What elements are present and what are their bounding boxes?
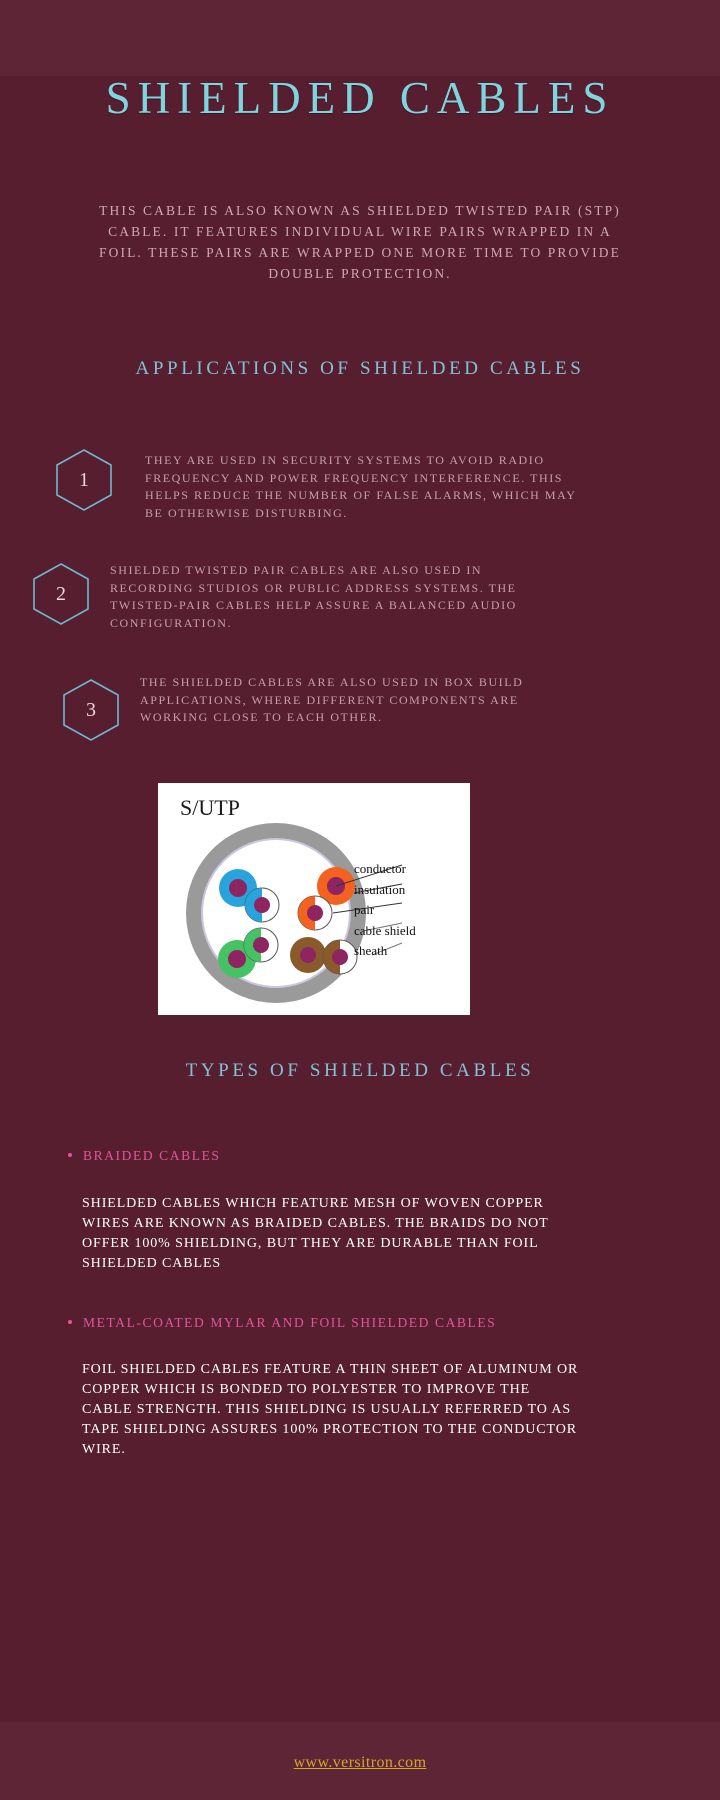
diagram-label-pair: pair	[354, 900, 416, 921]
application-text-1: THEY ARE USED IN SECURITY SYSTEMS TO AVO…	[145, 452, 585, 522]
diagram-label-list: conductor insulation pair cable shield s…	[354, 859, 416, 962]
hexagon-badge-1: 1	[55, 448, 113, 512]
application-item-2: 2 SHIELDED TWISTED PAIR CABLES ARE ALSO …	[0, 552, 720, 662]
footer-website-link[interactable]: www.versitron.com	[0, 1754, 720, 1772]
diagram-label-cable-shield: cable shield	[354, 921, 416, 942]
diagram-label-conductor: conductor	[354, 859, 416, 880]
page-title: SHIELDED CABLES	[0, 72, 720, 124]
hexagon-number-2: 2	[32, 562, 90, 626]
infographic-page: SHIELDED CABLES THIS CABLE IS ALSO KNOWN…	[0, 0, 720, 1800]
bullet-dot-icon	[68, 1320, 72, 1324]
cable-diagram-svg	[158, 783, 470, 1015]
bullet-label-foil: METAL-COATED MYLAR AND FOIL SHIELDED CAB…	[83, 1315, 496, 1330]
applications-heading: APPLICATIONS OF SHIELDED CABLES	[0, 358, 720, 380]
application-item-3: 3 THE SHIELDED CABLES ARE ALSO USED IN B…	[0, 664, 720, 774]
cable-cross-section-image: S/UTP	[158, 783, 470, 1015]
types-heading: TYPES OF SHIELDED CABLES	[0, 1060, 720, 1082]
intro-paragraph: THIS CABLE IS ALSO KNOWN AS SHIELDED TWI…	[90, 200, 630, 284]
top-band	[0, 0, 720, 76]
bullet-body-foil: FOIL SHIELDED CABLES FEATURE A THIN SHEE…	[82, 1360, 582, 1460]
hexagon-badge-3: 3	[62, 678, 120, 742]
diagram-label-insulation: insulation	[354, 880, 416, 901]
application-text-3: THE SHIELDED CABLES ARE ALSO USED IN BOX…	[140, 674, 570, 727]
application-item-1: 1 THEY ARE USED IN SECURITY SYSTEMS TO A…	[0, 440, 720, 550]
bullet-heading-braided: BRAIDED CABLES	[68, 1148, 221, 1164]
hexagon-badge-2: 2	[32, 562, 90, 626]
bullet-dot-icon	[68, 1153, 72, 1157]
application-text-2: SHIELDED TWISTED PAIR CABLES ARE ALSO US…	[110, 562, 530, 632]
hexagon-number-1: 1	[55, 448, 113, 512]
hexagon-number-3: 3	[62, 678, 120, 742]
bullet-label-braided: BRAIDED CABLES	[83, 1148, 221, 1163]
bullet-heading-foil: METAL-COATED MYLAR AND FOIL SHIELDED CAB…	[68, 1315, 496, 1331]
bullet-body-braided: SHIELDED CABLES WHICH FEATURE MESH OF WO…	[82, 1194, 582, 1274]
diagram-label-sheath: sheath	[354, 941, 416, 962]
